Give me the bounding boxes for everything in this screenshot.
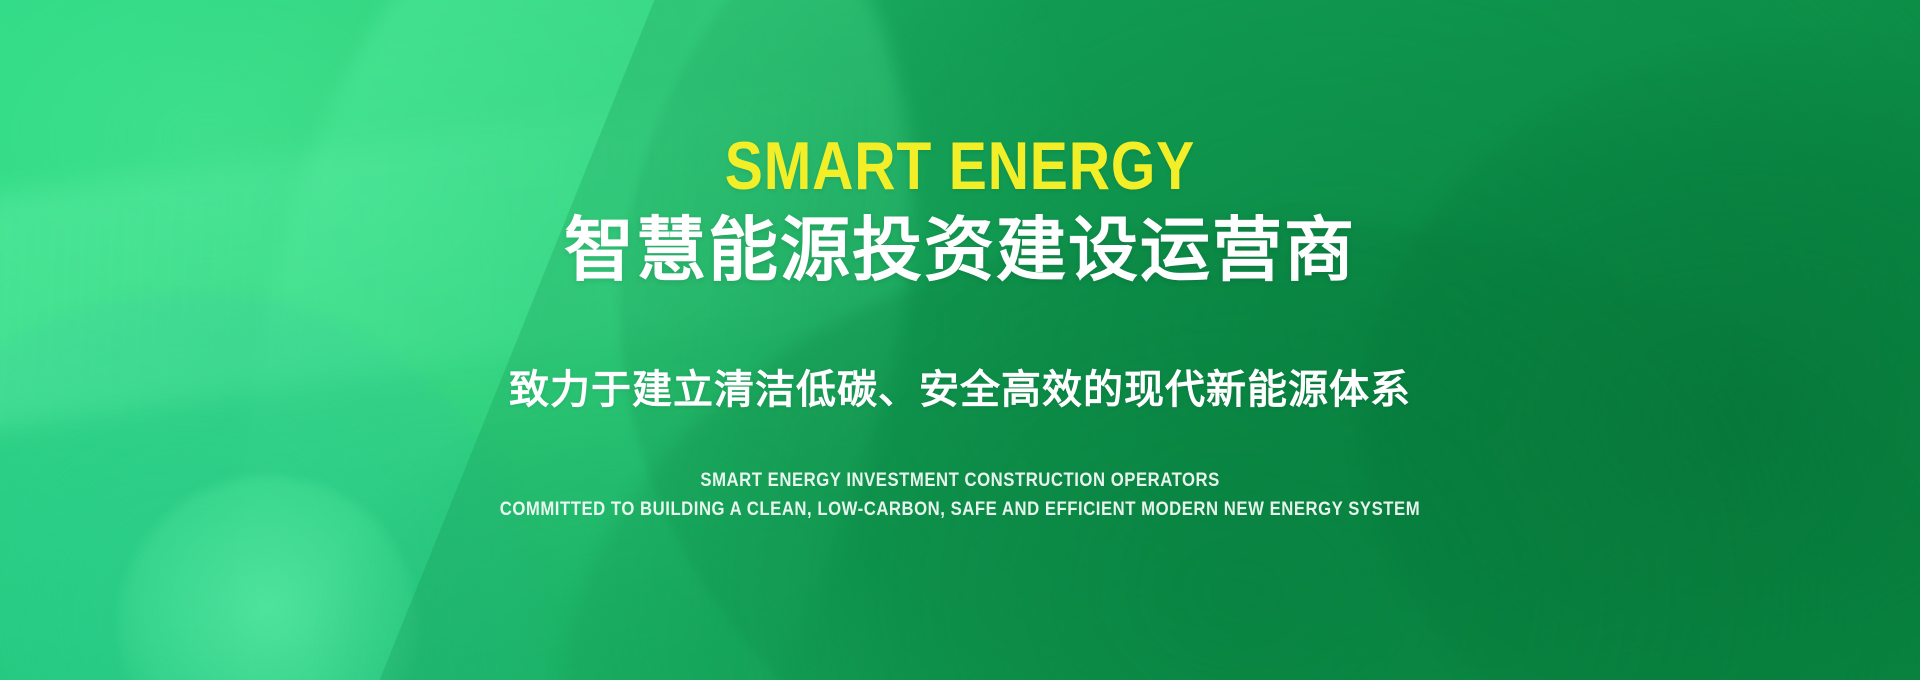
banner-caption-line-1: SMART ENERGY INVESTMENT CONSTRUCTION OPE… [700, 469, 1219, 493]
banner-title-chinese: 智慧能源投资建设运营商 [564, 214, 1356, 287]
hero-banner: SMART ENERGY 智慧能源投资建设运营商 致力于建立清洁低碳、安全高效的… [0, 0, 1920, 680]
banner-content: SMART ENERGY 智慧能源投资建设运营商 致力于建立清洁低碳、安全高效的… [0, 0, 1920, 680]
banner-caption-line-2: COMMITTED TO BUILDING A CLEAN, LOW-CARBO… [500, 498, 1420, 522]
banner-eyebrow-english: SMART ENERGY [725, 132, 1195, 200]
banner-caption-block: SMART ENERGY INVESTMENT CONSTRUCTION OPE… [437, 469, 1483, 522]
banner-subtitle-chinese: 致力于建立清洁低碳、安全高效的现代新能源体系 [509, 368, 1411, 412]
